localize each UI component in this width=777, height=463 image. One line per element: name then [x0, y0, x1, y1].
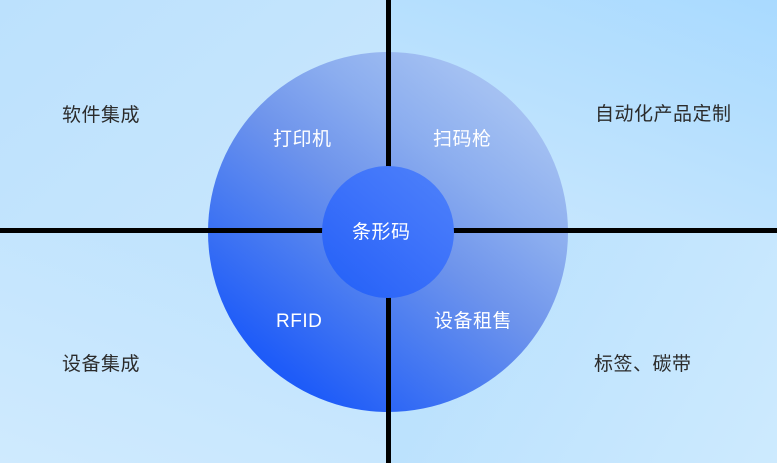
quadrant-label-equipment-integration[interactable]: 设备集成 [62, 355, 140, 374]
center-label-barcode[interactable]: 条形码 [352, 223, 411, 242]
diagram-canvas: 打印机 扫码枪 RFID 设备租售 条形码 软件集成 自动化产品定制 设备集成 … [0, 0, 777, 463]
ring-label-rfid[interactable]: RFID [276, 312, 322, 331]
quadrant-label-labels-ribbons[interactable]: 标签、碳带 [594, 355, 692, 374]
ring-label-printer[interactable]: 打印机 [273, 130, 332, 149]
ring-label-scanner[interactable]: 扫码枪 [433, 130, 492, 149]
ring-label-equipment-rental[interactable]: 设备租售 [434, 312, 512, 331]
quadrant-label-automation-customization[interactable]: 自动化产品定制 [595, 105, 732, 124]
quadrant-label-software-integration[interactable]: 软件集成 [62, 106, 140, 125]
